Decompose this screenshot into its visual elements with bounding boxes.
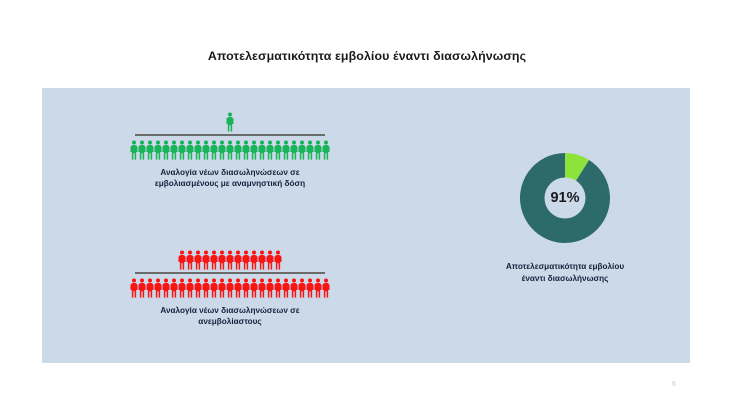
person-icon [218, 250, 226, 270]
donut-caption: Αποτελεσματικότητα εμβολίου έναντι διασω… [435, 261, 695, 286]
person-icon [250, 250, 258, 270]
person-icon [146, 278, 154, 298]
person-icon [218, 140, 226, 160]
pictogram-row-bottom-green [105, 138, 355, 160]
page-number: 6 [672, 381, 676, 388]
person-icon [226, 112, 234, 132]
person-icon [194, 278, 202, 298]
person-icon [266, 140, 274, 160]
person-icon [194, 140, 202, 160]
person-icon [202, 278, 210, 298]
person-icon [210, 278, 218, 298]
pictogram-row-top-red [105, 248, 355, 270]
donut-center-label: 91% [517, 150, 613, 246]
person-icon [178, 250, 186, 270]
caption-line-2: έναντι διασωλήνωσης [435, 273, 695, 285]
person-icon [170, 278, 178, 298]
person-icon [186, 278, 194, 298]
donut-chart-block: 91% Αποτελεσματικότητα εμβολίου έναντι δ… [435, 150, 695, 286]
person-icon [162, 140, 170, 160]
caption-line-1: Αναλογία νέων διασωληνώσεων σε [105, 305, 355, 317]
person-icon [290, 140, 298, 160]
pictogram-caption-vaccinated-booster: Αναλογία νέων διασωληνώσεων σε εμβολιασμ… [105, 167, 355, 191]
person-icon [282, 278, 290, 298]
person-icon [146, 140, 154, 160]
person-icon [138, 140, 146, 160]
person-icon [202, 250, 210, 270]
pictogram-group-vaccinated-booster: Αναλογία νέων διασωληνώσεων σε εμβολιασμ… [105, 110, 355, 190]
person-icon [258, 140, 266, 160]
donut-chart: 91% [517, 150, 613, 246]
person-icon [234, 278, 242, 298]
page-title: Αποτελεσματικότητα εμβολίου έναντι διασω… [0, 49, 734, 63]
person-icon [138, 278, 146, 298]
person-icon [186, 140, 194, 160]
caption-line-2: ανεμβολίαστους [105, 316, 355, 328]
person-icon [234, 140, 242, 160]
pictogram-divider-red [135, 272, 325, 274]
person-icon [210, 140, 218, 160]
person-icon [242, 278, 250, 298]
person-icon [154, 278, 162, 298]
person-icon [266, 278, 274, 298]
person-icon [170, 140, 178, 160]
person-icon [202, 140, 210, 160]
person-icon [218, 278, 226, 298]
pictogram-row-bottom-red [105, 276, 355, 298]
person-icon [322, 278, 330, 298]
person-icon [322, 140, 330, 160]
person-icon [298, 278, 306, 298]
person-icon [258, 278, 266, 298]
person-icon [250, 140, 258, 160]
person-icon [162, 278, 170, 298]
person-icon [274, 278, 282, 298]
caption-line-2: εμβολιασμένους με αναμνηστική δόση [105, 178, 355, 190]
person-icon [298, 140, 306, 160]
person-icon [258, 250, 266, 270]
caption-line-1: Αναλογία νέων διασωληνώσεων σε [105, 167, 355, 179]
person-icon [306, 140, 314, 160]
person-icon [282, 140, 290, 160]
person-icon [226, 278, 234, 298]
person-icon [186, 250, 194, 270]
person-icon [130, 278, 138, 298]
pictogram-row-top-green [105, 110, 355, 132]
person-icon [194, 250, 202, 270]
person-icon [178, 278, 186, 298]
person-icon [266, 250, 274, 270]
person-icon [234, 250, 242, 270]
person-icon [226, 140, 234, 160]
slide-canvas: Αποτελεσματικότητα εμβολίου έναντι διασω… [0, 0, 734, 413]
person-icon [274, 250, 282, 270]
person-icon [130, 140, 138, 160]
person-icon [226, 250, 234, 270]
pictogram-caption-unvaccinated: Αναλογία νέων διασωληνώσεων σε ανεμβολία… [105, 305, 355, 329]
caption-line-1: Αποτελεσματικότητα εμβολίου [435, 261, 695, 273]
person-icon [242, 140, 250, 160]
pictogram-divider-green [135, 134, 325, 136]
pictogram-group-unvaccinated: Αναλογία νέων διασωληνώσεων σε ανεμβολία… [105, 248, 355, 328]
person-icon [306, 278, 314, 298]
person-icon [314, 278, 322, 298]
person-icon [314, 140, 322, 160]
person-icon [290, 278, 298, 298]
person-icon [154, 140, 162, 160]
person-icon [250, 278, 258, 298]
person-icon [274, 140, 282, 160]
person-icon [178, 140, 186, 160]
person-icon [242, 250, 250, 270]
person-icon [210, 250, 218, 270]
content-panel: Αναλογία νέων διασωληνώσεων σε εμβολιασμ… [42, 88, 690, 363]
